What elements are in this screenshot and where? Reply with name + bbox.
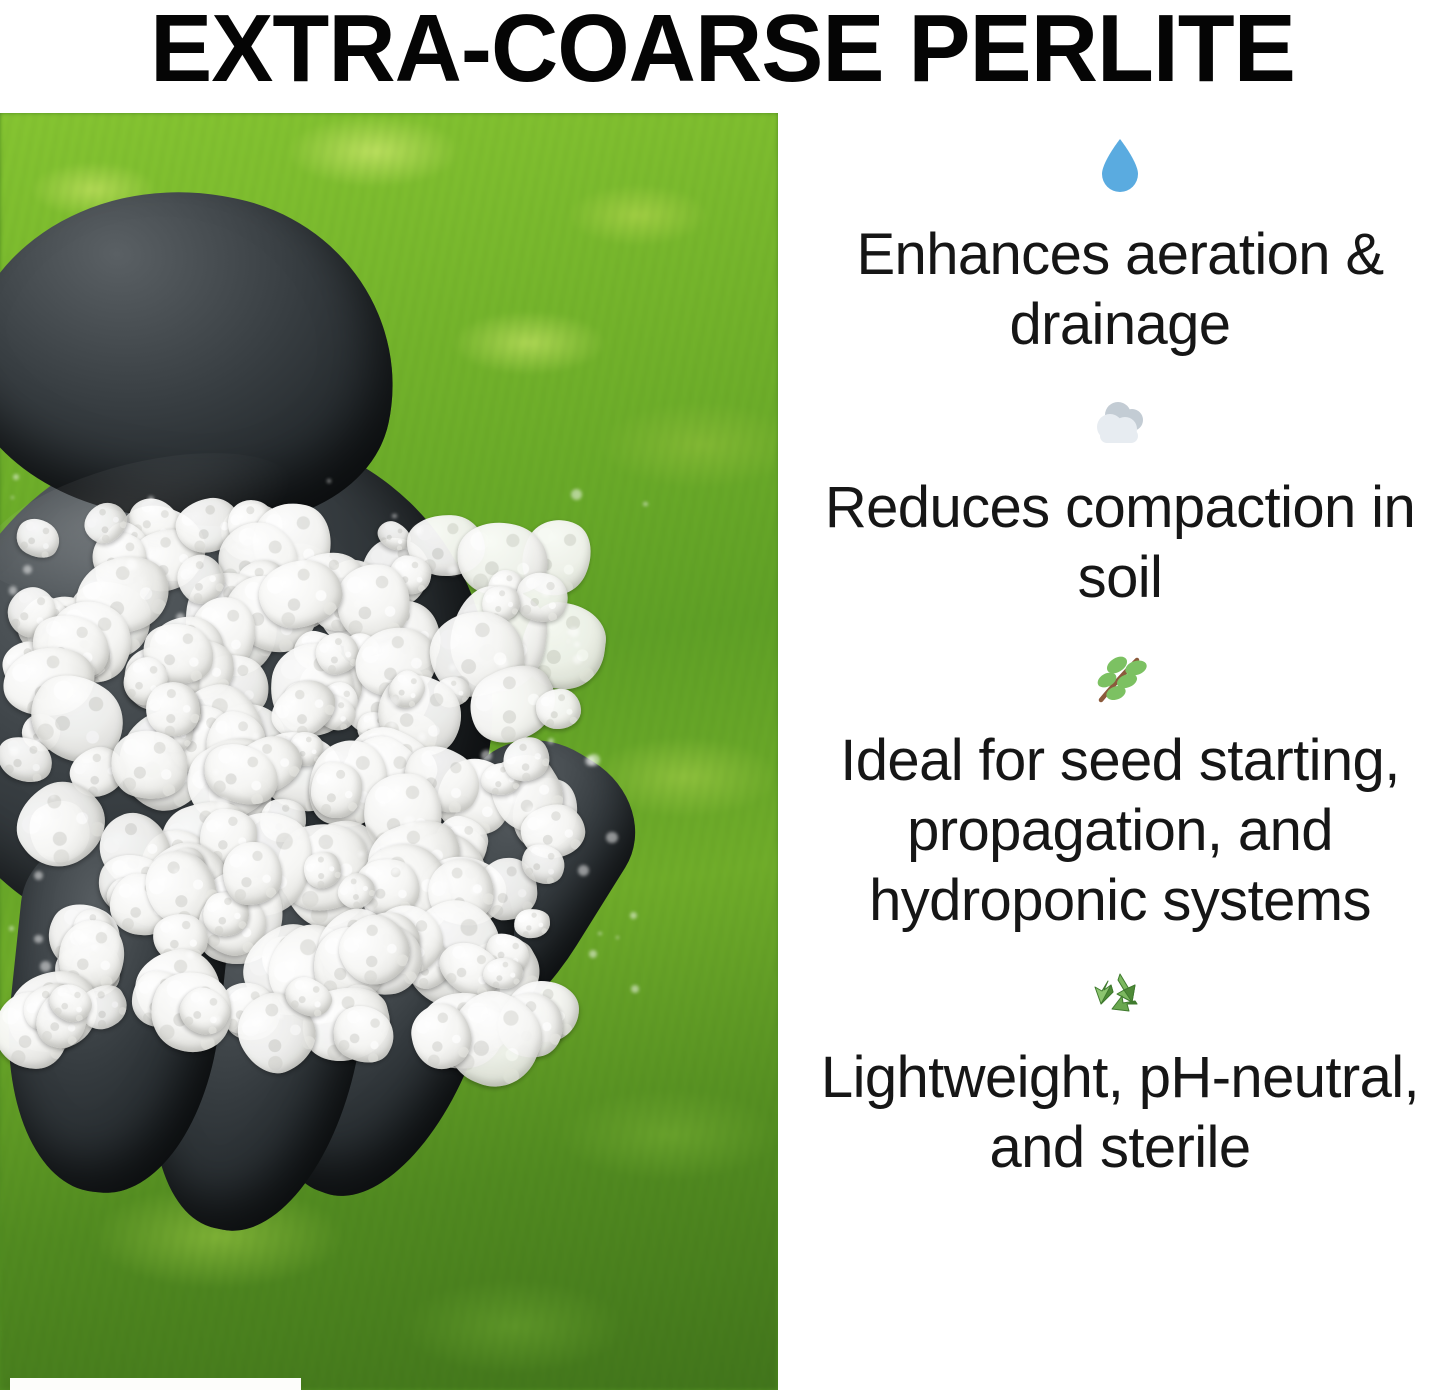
perlite-dust [389, 721, 396, 728]
feature-item-seed-starting: Ideal for seed starting, propagation, an… [795, 638, 1445, 935]
perlite-dust [13, 474, 19, 480]
perlite-dust [542, 589, 550, 597]
perlite-dust [327, 479, 331, 483]
perlite-dust [9, 926, 14, 931]
feature-text: Enhances aeration & drainage [795, 220, 1445, 359]
water-droplet-icon [795, 130, 1445, 220]
product-photo: MY GARDENWISE BETTER GARDENS START HERE [0, 113, 778, 1390]
perlite-dust [176, 613, 185, 622]
perlite-dust [199, 722, 208, 731]
perlite-granule [223, 841, 283, 905]
perlite-dust [253, 733, 259, 739]
perlite-dust [9, 586, 17, 594]
perlite-dust [567, 640, 570, 643]
perlite-dust [616, 936, 619, 939]
perlite-granules [0, 473, 660, 1033]
perlite-dust [290, 699, 297, 706]
perlite-dust [573, 655, 582, 664]
perlite-dust [126, 559, 137, 570]
perlite-dust [418, 733, 426, 741]
perlite-dust [388, 696, 399, 707]
perlite-dust [526, 806, 536, 816]
perlite-dust [571, 489, 583, 501]
perlite-dust [589, 950, 597, 958]
perlite-dust [101, 925, 107, 931]
perlite-dust [463, 995, 473, 1005]
perlite-granule [311, 762, 362, 818]
perlite-dust [481, 750, 492, 761]
feature-text: Ideal for seed starting, propagation, an… [795, 726, 1445, 935]
perlite-dust [213, 1016, 221, 1024]
infographic-page: EXTRA-COARSE PERLITE [0, 0, 1445, 1395]
perlite-dust [186, 951, 194, 959]
perlite-dust [217, 798, 228, 809]
perlite-dust [569, 627, 579, 637]
perlite-dust [548, 738, 554, 744]
perlite-dust [404, 816, 415, 827]
perlite-dust [578, 865, 589, 876]
perlite-dust [448, 566, 457, 575]
perlite-dust [11, 496, 14, 499]
perlite-granule [10, 511, 67, 564]
feature-item-compaction: Reduces compaction in soil [795, 389, 1445, 612]
page-title: EXTRA-COARSE PERLITE [22, 0, 1424, 104]
feature-text: Reduces compaction in soil [795, 473, 1445, 612]
perlite-dust [34, 935, 43, 944]
perlite-dust [23, 565, 32, 574]
perlite-dust [392, 514, 397, 519]
perlite-dust [643, 502, 648, 507]
perlite-dust [278, 1013, 284, 1019]
perlite-dust [34, 738, 41, 745]
perlite-dust [588, 754, 600, 766]
perlite-dust [91, 944, 98, 951]
recycle-icon [795, 959, 1445, 1043]
perlite-dust [631, 985, 639, 993]
cloud-icon [795, 389, 1445, 473]
brand-logo-card: MY GARDENWISE BETTER GARDENS START HERE [10, 1378, 301, 1390]
perlite-dust [148, 496, 154, 502]
herb-sprig-icon [795, 638, 1445, 726]
perlite-dust [358, 851, 364, 857]
feature-item-lightweight: Lightweight, pH-neutral, and sterile [795, 959, 1445, 1182]
perlite-dust [563, 689, 566, 692]
perlite-dust [598, 932, 602, 936]
perlite-dust [606, 832, 617, 843]
perlite-dust [9, 747, 18, 756]
perlite-granule [512, 908, 551, 940]
perlite-dust [414, 526, 423, 535]
perlite-dust [392, 742, 396, 746]
feature-item-aeration: Enhances aeration & drainage [795, 130, 1445, 359]
perlite-dust [362, 904, 374, 916]
feature-list: Enhances aeration & drainage [795, 130, 1445, 1182]
perlite-dust [630, 912, 637, 919]
feature-text: Lightweight, pH-neutral, and sterile [795, 1043, 1445, 1182]
perlite-dust [34, 871, 43, 880]
perlite-dust [390, 868, 397, 875]
perlite-dust [497, 658, 507, 668]
perlite-dust [40, 961, 51, 972]
perlite-dust [50, 794, 55, 799]
